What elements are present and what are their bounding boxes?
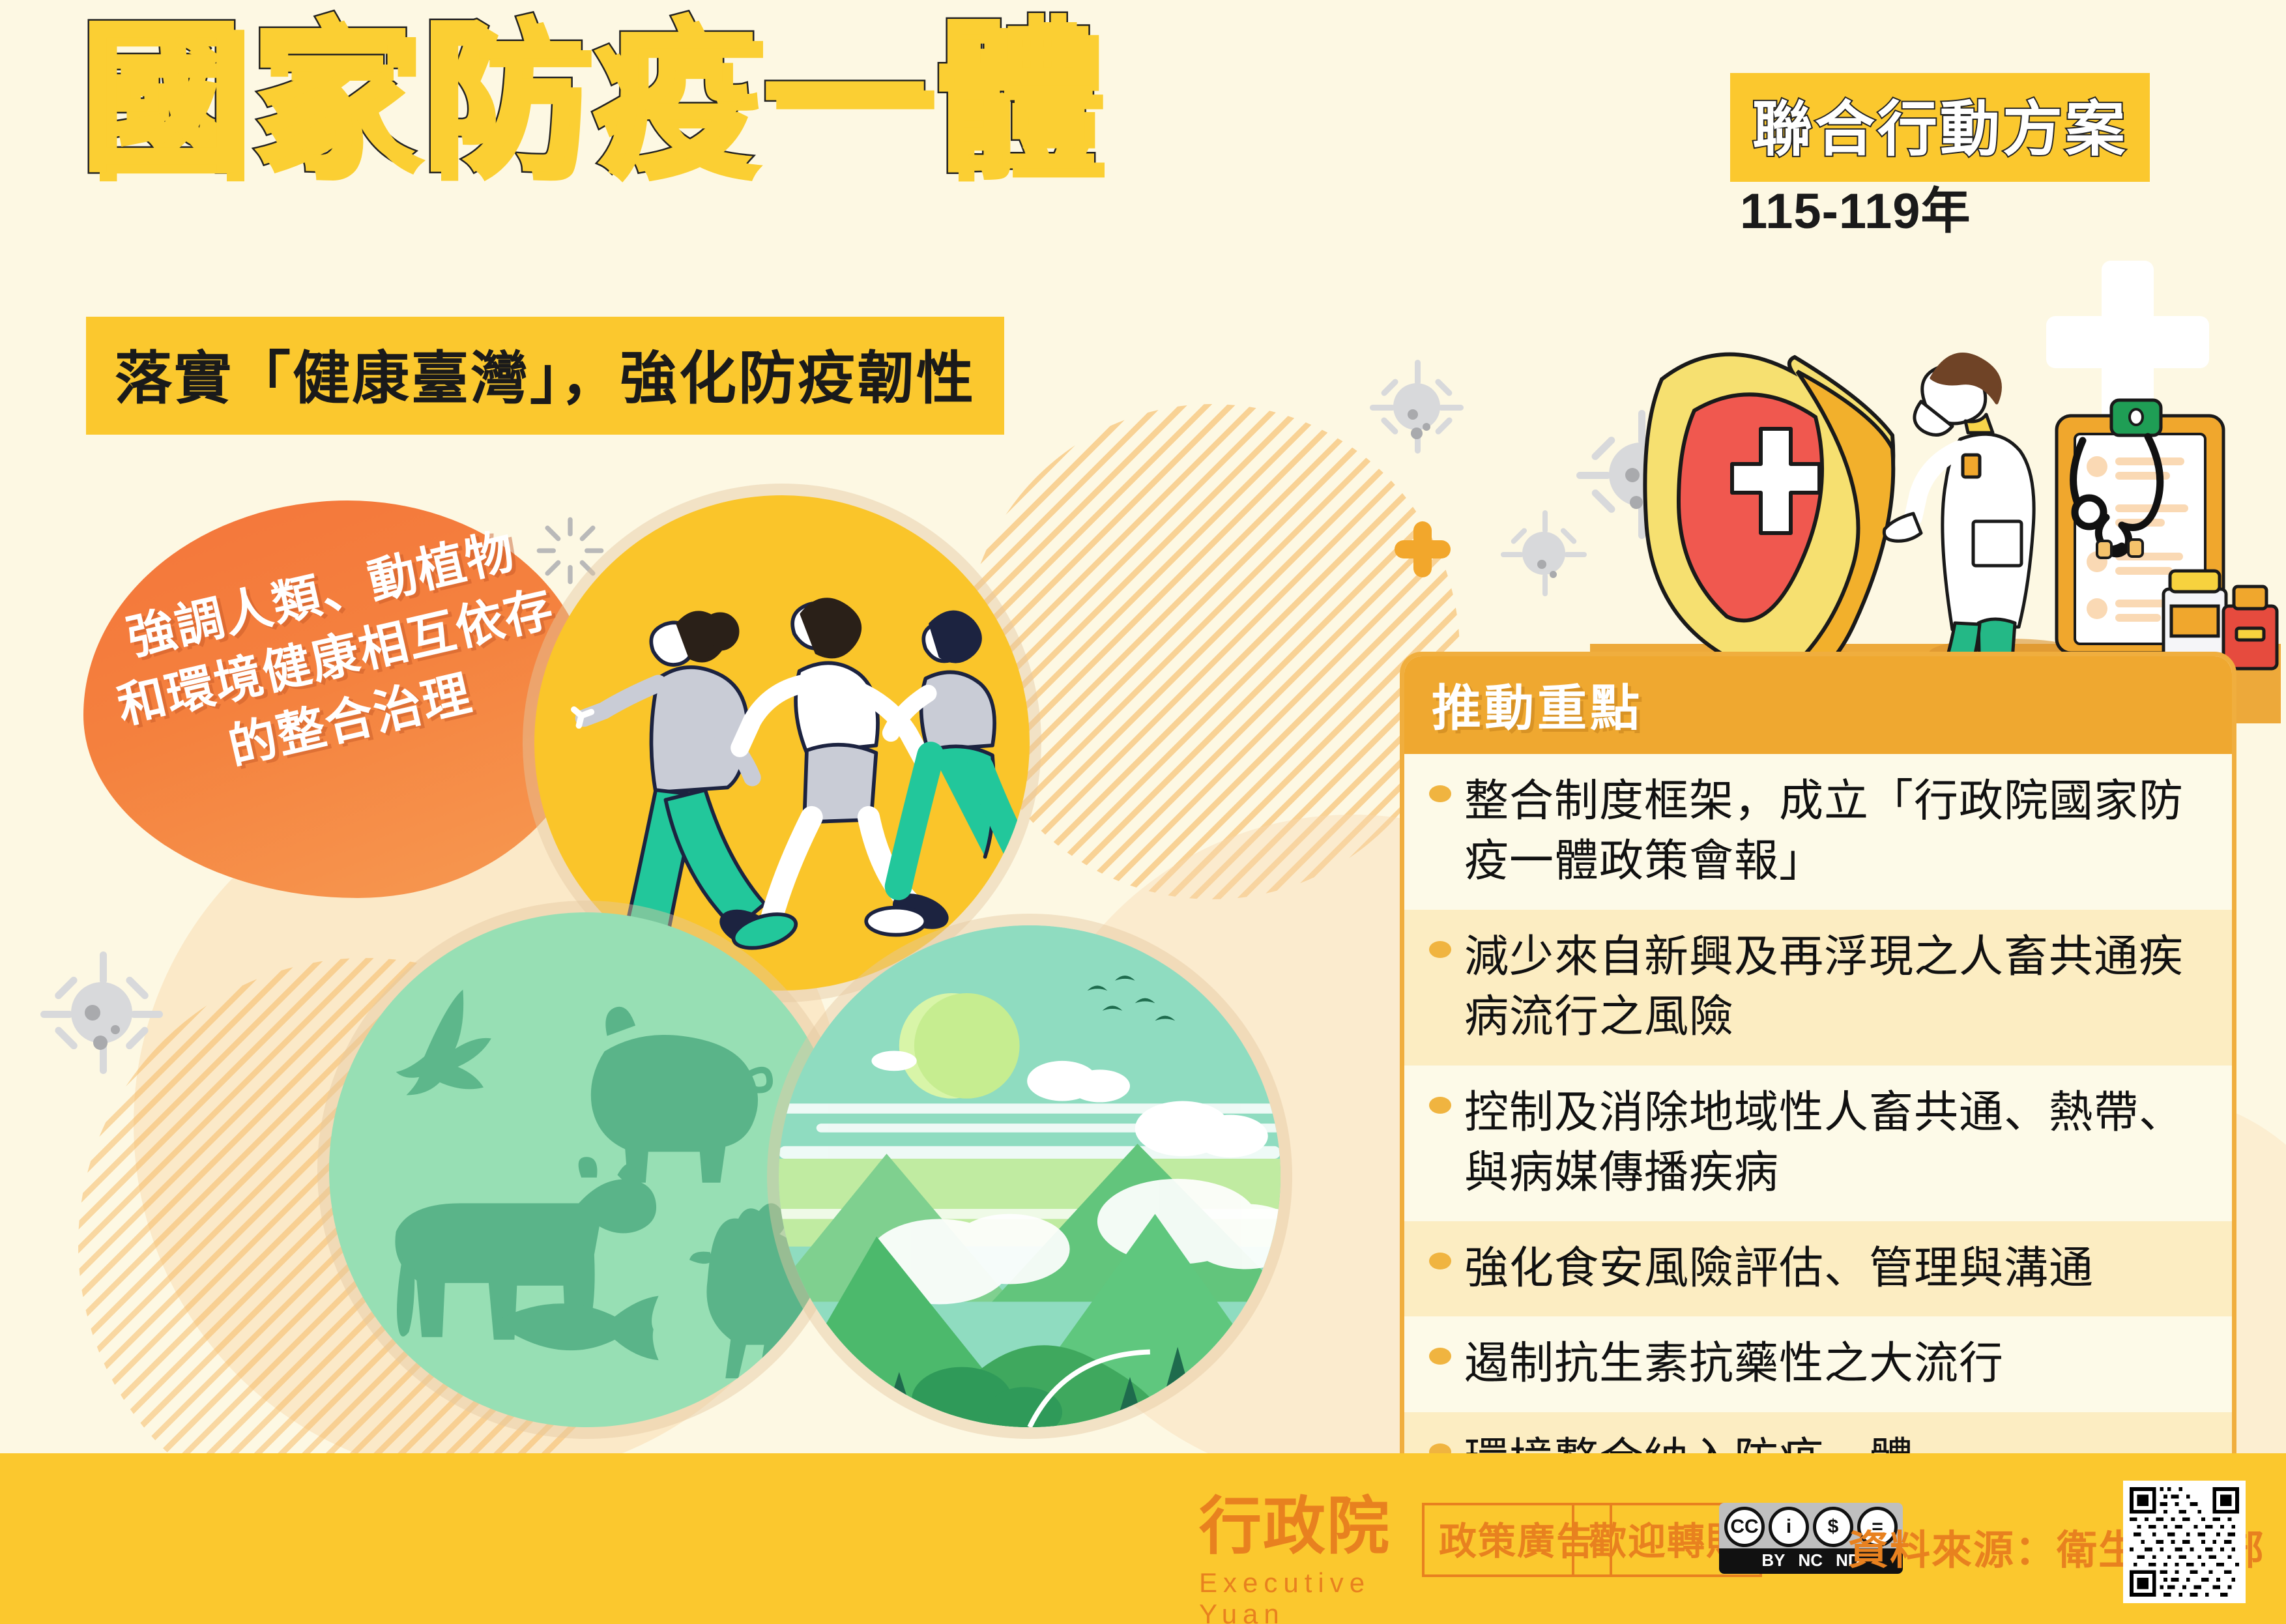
key-point-text: 整合制度框架，成立「行政院國家防疫一體政策會報」 [1464,771,2207,892]
plus-icon [1395,521,1451,577]
cc-by-label: BY [1761,1550,1785,1571]
pig-silhouette [591,1007,770,1183]
bullet-dot-icon [1429,1097,1451,1114]
page-title: 國家防疫一體 [78,12,1103,185]
key-point-row[interactable]: 整合制度框架，成立「行政院國家防疫一體政策會報」 [1404,754,2232,910]
key-point-row[interactable]: 遏制抗生素抗藥性之大流行 [1404,1316,2232,1412]
bullet-dot-icon [1429,1348,1451,1365]
subtitle-banner: 落實「健康臺灣」，強化防疫韌性 [86,317,1004,435]
bullet-dot-icon [1429,1253,1451,1269]
key-point-text: 控制及消除地域性人畜共通、熱帶、與病媒傳播疾病 [1464,1082,2207,1203]
key-point-text: 強化食安風險評估、管理與溝通 [1464,1238,2094,1298]
key-points-heading: 推動重點 [1404,656,2232,754]
key-point-row[interactable]: 強化食安風險評估、管理與溝通 [1404,1221,2232,1316]
cc-by-icon: i [1769,1507,1809,1547]
person-walking [574,613,778,953]
medicine-bottle-red [2223,587,2277,669]
program-banner-label: 聯合行動方案 [1752,81,2128,167]
qr-code[interactable] [2123,1481,2246,1603]
key-points-panel: 推動重點 整合制度框架，成立「行政院國家防疫一體政策會報」 減少來自新興及再浮現… [1400,652,2236,1512]
agency-name-cn: 行政院 [1199,1475,1414,1566]
shield-icon [1645,355,1893,689]
footer-bar: 行政院 Executive Yuan 政策廣告 歡迎轉貼 CC i $ = BY… [0,1453,2286,1624]
fish-silhouette [494,1296,659,1361]
nature-circle [779,925,1280,1427]
cc-nc-icon: $ [1813,1507,1853,1547]
bullet-dot-icon [1429,785,1451,802]
cc-icon: CC [1724,1507,1765,1547]
virus-icon [47,958,156,1067]
agency-name-en: Executive Yuan [1199,1567,1414,1624]
poster-title-block: 國家防疫一體 [78,12,1103,185]
animals-circle [329,912,844,1427]
program-years: 115-119年 [1740,171,1971,242]
poster-canvas: 國家防疫一體 落實「健康臺灣」，強化防疫韌性 聯合行動方案 115-119年 強… [0,0,2286,1624]
key-point-text: 減少來自新興及再浮現之人畜共通疾病流行之風險 [1464,927,2207,1047]
program-banner: 聯合行動方案 [1730,73,2150,182]
key-point-text: 遏制抗生素抗藥性之大流行 [1464,1333,2004,1393]
cc-nc-label: NC [1799,1550,1823,1571]
virus-icon [1505,515,1582,592]
person-jogging [866,612,1030,935]
virus-icon [1375,365,1458,448]
executive-yuan-logo: 行政院 Executive Yuan [1199,1475,1414,1624]
bird-silhouette [396,990,491,1095]
key-point-row[interactable]: 減少來自新興及再浮現之人畜共通疾病流行之風險 [1404,910,2232,1066]
bullet-dot-icon [1429,941,1451,958]
key-point-row[interactable]: 控制及消除地域性人畜共通、熱帶、與病媒傳播疾病 [1404,1066,2232,1221]
